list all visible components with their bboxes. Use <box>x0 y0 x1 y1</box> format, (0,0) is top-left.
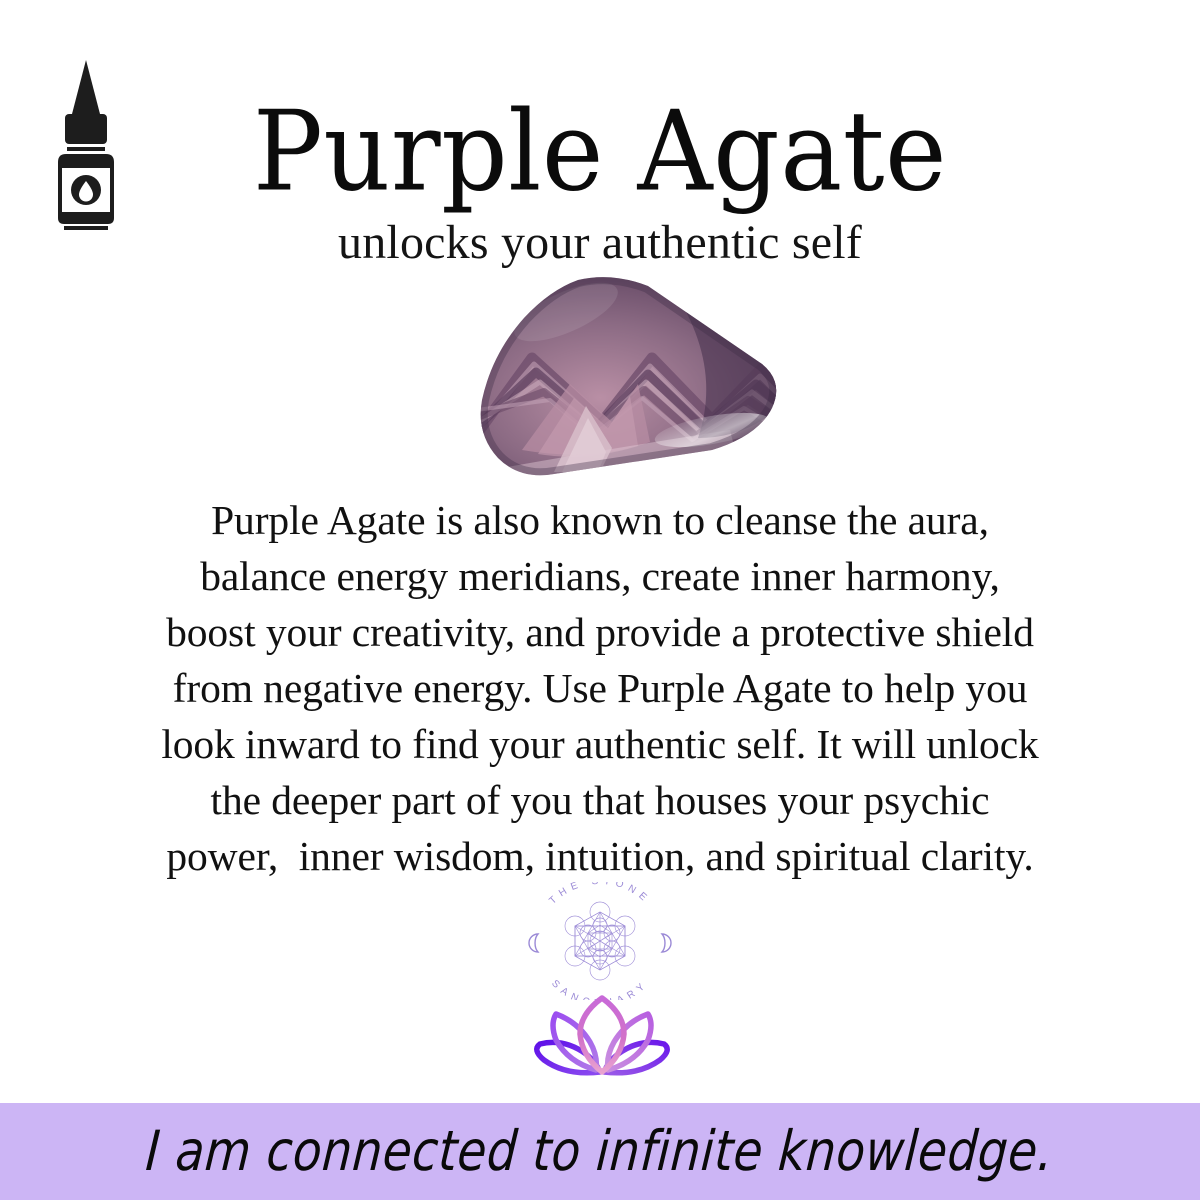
metatrons-cube-icon <box>565 902 635 980</box>
affirmation-banner: I am connected to infinite knowledge. <box>0 1103 1200 1200</box>
affirmation-text: I am connected to infinite knowledge. <box>144 1119 1056 1184</box>
page-subtitle: unlocks your authentic self <box>0 218 1200 268</box>
brand-logo: THE STONE SANCTUARY <box>516 882 684 1000</box>
page-title: Purple Agate <box>0 96 1200 206</box>
purple-agate-stone-image <box>462 272 792 482</box>
brand-logo-top-text: THE STONE <box>547 882 652 907</box>
title-block: Purple Agate unlocks your authentic self <box>0 96 1200 268</box>
stone-description: Purple Agate is also known to cleanse th… <box>100 492 1100 884</box>
crystal-info-card: Purple Agate unlocks your authentic self <box>0 0 1200 1200</box>
lotus-flower-icon <box>524 992 680 1084</box>
